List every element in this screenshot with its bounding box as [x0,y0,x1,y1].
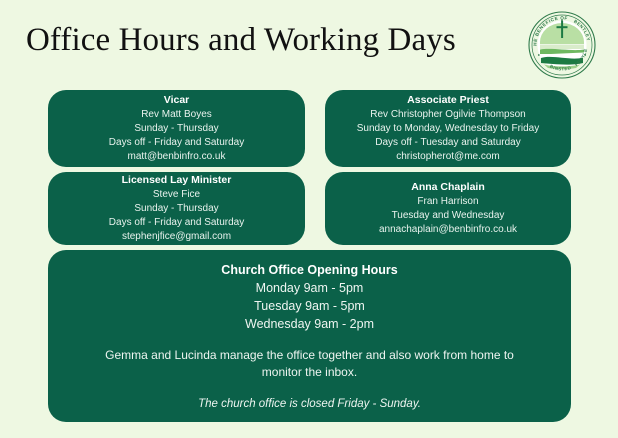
card-role-title: Vicar [164,93,190,107]
card-associate-priest: Associate Priest Rev Christopher Ogilvie… [325,90,571,167]
card-working-days: Sunday to Monday, Wednesday to Friday [357,122,540,136]
card-role-title: Associate Priest [407,93,489,107]
card-person-name: Rev Matt Boyes [141,108,212,122]
card-working-days: Tuesday and Wednesday [392,209,505,223]
card-person-name: Steve Fice [153,188,200,202]
card-licensed-lay-minister: Licensed Lay Minister Steve Fice Sunday … [48,172,305,245]
card-church-office-hours: Church Office Opening Hours Monday 9am -… [48,250,571,422]
card-vicar: Vicar Rev Matt Boyes Sunday - Thursday D… [48,90,305,167]
card-email[interactable]: matt@benbinfro.co.uk [128,150,226,164]
slide-canvas: Office Hours and Working Days [0,0,618,438]
office-hours-tuesday: Tuesday 9am - 5pm [76,297,543,315]
card-days-off: Days off - Tuesday and Saturday [375,136,520,150]
spacer [76,381,543,396]
office-hours-monday: Monday 9am - 5pm [76,279,543,297]
header: Office Hours and Working Days [0,0,618,88]
office-hours-wednesday: Wednesday 9am - 2pm [76,315,543,333]
card-person-name: Rev Christopher Ogilvie Thompson [370,108,525,122]
spacer [76,333,543,347]
card-person-name: Fran Harrison [417,195,478,209]
page-title: Office Hours and Working Days [26,20,516,60]
card-days-off: Days off - Friday and Saturday [109,216,244,230]
office-closed-note: The church office is closed Friday - Sun… [76,396,543,412]
card-role-title: Licensed Lay Minister [122,173,232,187]
card-email[interactable]: christopherot@me.com [396,150,500,164]
office-staff-note: Gemma and Lucinda manage the office toge… [76,347,543,381]
office-hours-title: Church Office Opening Hours [76,261,543,279]
card-anna-chaplain: Anna Chaplain Fran Harrison Tuesday and … [325,172,571,245]
card-email[interactable]: annachaplain@benbinfro.co.uk [379,223,517,237]
card-days-off: Days off - Friday and Saturday [109,136,244,150]
card-role-title: Anna Chaplain [411,180,485,194]
card-working-days: Sunday - Thursday [134,202,218,216]
benefice-crest-logo: THE BENEFICE OF BENTLEY BINSTED FROYLE [528,11,596,79]
card-email[interactable]: stephenjfice@gmail.com [122,230,231,244]
card-working-days: Sunday - Thursday [134,122,218,136]
crest-icon: THE BENEFICE OF BENTLEY BINSTED FROYLE [528,11,596,79]
